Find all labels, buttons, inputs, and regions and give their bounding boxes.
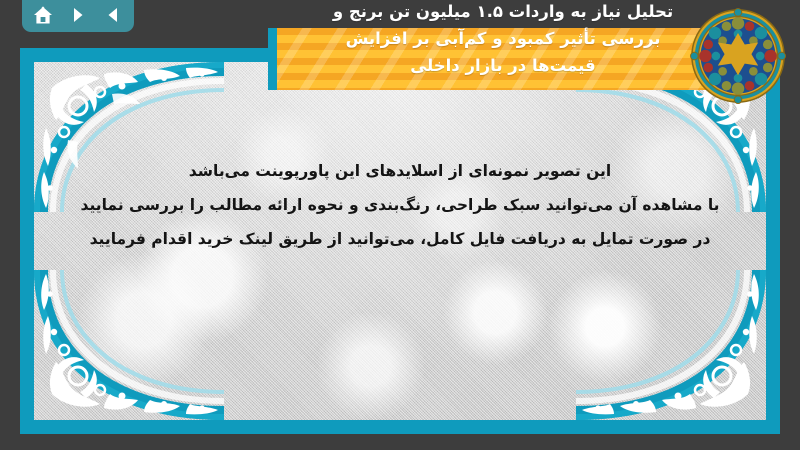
next-slide-button[interactable] <box>65 3 91 27</box>
navigation-bar <box>22 0 134 32</box>
title-line-1: تحلیل نیاز به واردات ۱.۵ میلیون تن برنج … <box>268 0 738 25</box>
home-icon <box>33 6 53 25</box>
title-banner <box>268 28 746 90</box>
persian-medallion-icon <box>690 8 786 104</box>
slide-content-area: این تصویر نمونه‌ای از اسلایدهای این پاور… <box>34 62 766 420</box>
arabesque-corner-icon <box>34 270 224 420</box>
banner-left-accent <box>268 28 277 90</box>
body-line-1: این تصویر نمونه‌ای از اسلایدهای این پاور… <box>34 154 766 188</box>
slide-body-text: این تصویر نمونه‌ای از اسلایدهای این پاور… <box>34 154 766 256</box>
arabesque-corner-icon <box>576 270 766 420</box>
slide-frame: این تصویر نمونه‌ای از اسلایدهای این پاور… <box>20 48 780 434</box>
home-button[interactable] <box>30 3 56 27</box>
triangle-right-icon <box>69 6 87 24</box>
body-line-3: در صورت تمایل به دریافت فایل کامل، می‌تو… <box>34 222 766 256</box>
slide-viewer: تحلیل نیاز به واردات ۱.۵ میلیون تن برنج … <box>0 0 800 450</box>
body-line-2: با مشاهده آن می‌توانید سبک طراحی، رنگ‌بن… <box>34 188 766 222</box>
triangle-left-icon <box>104 6 122 24</box>
prev-slide-button[interactable] <box>100 3 126 27</box>
